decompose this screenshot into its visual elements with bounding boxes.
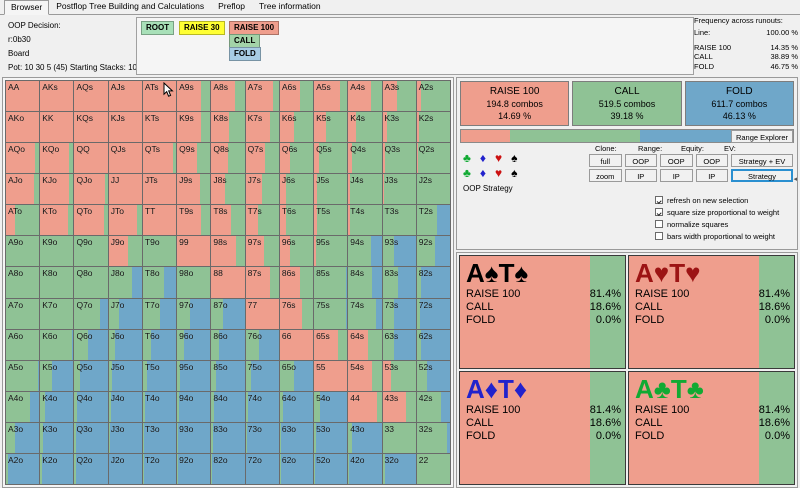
matrix-cell[interactable]: 96s	[280, 236, 314, 267]
matrix-cell[interactable]: 99	[177, 236, 211, 267]
matrix-cell[interactable]: 43o	[348, 423, 382, 454]
tool-button-column: OOPIP	[696, 154, 729, 182]
matrix-cell[interactable]: A5o	[6, 361, 40, 392]
matrix-cell[interactable]: J2o	[109, 454, 143, 485]
matrix-cell-label: 83s	[385, 268, 399, 279]
matrix-cell[interactable]: 65o	[280, 361, 314, 392]
matrix-cell[interactable]: 88	[211, 267, 245, 298]
matrix-cell[interactable]: 86o	[211, 330, 245, 361]
matrix-cell[interactable]: 75s	[314, 299, 348, 330]
matrix-cell[interactable]: 76o	[246, 330, 280, 361]
matrix-cell[interactable]: A7o	[6, 299, 40, 330]
matrix-cell[interactable]: 42o	[348, 454, 382, 485]
matrix-cell[interactable]: Q8s	[211, 143, 245, 174]
checkbox-bars-width-proportional-to-weight[interactable]	[655, 232, 663, 240]
matrix-cell[interactable]: 74s	[348, 299, 382, 330]
matrix-cell[interactable]: ATs	[143, 81, 177, 112]
matrix-cell[interactable]: 98o	[177, 267, 211, 298]
tool-button-header: EV:	[718, 144, 761, 153]
matrix-cell[interactable]: Q4o	[74, 392, 108, 423]
matrix-cell[interactable]: 94s	[348, 236, 382, 267]
matrix-cell[interactable]: 94o	[177, 392, 211, 423]
tab-browser[interactable]: Browser	[4, 0, 49, 15]
matrix-cell[interactable]: 53o	[314, 423, 348, 454]
matrix-cell[interactable]: 83s	[383, 267, 417, 298]
matrix-cell[interactable]: K2s	[417, 112, 451, 143]
matrix-cell-label: Q7s	[248, 144, 264, 155]
diamond-icon[interactable]: ♦	[480, 167, 486, 179]
matrix-cell-segment	[228, 143, 245, 173]
checkbox-row[interactable]: bars width proportional to weight	[655, 230, 779, 242]
matrix-cell[interactable]: 44	[348, 392, 382, 423]
action-percent: 39.18 %	[610, 110, 643, 122]
matrix-cell-label: A6o	[8, 331, 23, 342]
matrix-cell[interactable]: 83o	[211, 423, 245, 454]
tab-postflop-tree-building-and-calculations[interactable]: Postflop Tree Building and Calculations	[49, 0, 211, 14]
matrix-cell[interactable]: K8s	[211, 112, 245, 143]
matrix-cell[interactable]: 22	[417, 454, 451, 485]
matrix-cell-label: 22	[419, 455, 428, 466]
matrix-cell[interactable]: KTo	[40, 205, 74, 236]
hand-detail-panel: A♠T♠RAISE 10081.4%CALL18.6%FOLD0.0%A♥T♥R…	[456, 252, 798, 488]
club-icon[interactable]: ♣	[463, 152, 471, 164]
strategy-summary-panel: RAISE 100194.8 combos14.69 %CALL519.5 co…	[456, 77, 798, 250]
matrix-cell[interactable]: 76s	[280, 299, 314, 330]
tab-preflop[interactable]: Preflop	[211, 0, 252, 14]
matrix-cell[interactable]: A4o	[6, 392, 40, 423]
matrix-cell[interactable]: 77	[246, 299, 280, 330]
matrix-cell[interactable]: A8o	[6, 267, 40, 298]
checkbox-normalize-squares[interactable]	[655, 220, 663, 228]
matrix-cell[interactable]: K6s	[280, 112, 314, 143]
matrix-cell[interactable]: 82s	[417, 267, 451, 298]
heart-icon[interactable]: ♥	[495, 152, 502, 164]
matrix-cell[interactable]: J7s	[246, 174, 280, 205]
matrix-cell[interactable]: Q2s	[417, 143, 451, 174]
matrix-cell[interactable]: AKo	[6, 112, 40, 143]
matrix-cell-segment	[225, 174, 245, 204]
matrix-cell-label: K6o	[42, 331, 57, 342]
matrix-cell-label: Q9o	[76, 237, 92, 248]
matrix-cell[interactable]: T8o	[143, 267, 177, 298]
hand-strategy-row: CALL18.6%	[466, 301, 621, 314]
hand-detail-Aspade-Tspade[interactable]: A♠T♠RAISE 10081.4%CALL18.6%FOLD0.0%	[459, 255, 626, 369]
matrix-cell-label: K4s	[350, 113, 365, 124]
matrix-cell[interactable]: 72s	[417, 299, 451, 330]
matrix-cell-label: AQs	[76, 82, 93, 93]
matrix-cell[interactable]: J8s	[211, 174, 245, 205]
matrix-cell-label: K9o	[42, 237, 57, 248]
matrix-cell[interactable]: K7o	[40, 299, 74, 330]
matrix-cell[interactable]: 92s	[417, 236, 451, 267]
tool-button-bottom[interactable]: IP	[660, 169, 693, 182]
matrix-cell-label: 85o	[213, 362, 227, 373]
matrix-cell[interactable]: 63o	[280, 423, 314, 454]
display-options-checkboxes[interactable]: refresh on new selectionsquare size prop…	[655, 194, 779, 242]
matrix-cell[interactable]: T2s	[417, 205, 451, 236]
matrix-cell[interactable]: K4s	[348, 112, 382, 143]
tool-button-top[interactable]: OOP	[696, 154, 729, 167]
matrix-cell-label: 84s	[350, 268, 364, 279]
matrix-cell[interactable]: 86s	[280, 267, 314, 298]
matrix-cell[interactable]: Q7s	[246, 143, 280, 174]
matrix-cell[interactable]: QJo	[74, 174, 108, 205]
matrix-cell[interactable]: 32o	[383, 454, 417, 485]
matrix-cell[interactable]: 54o	[314, 392, 348, 423]
matrix-cell[interactable]: K7s	[246, 112, 280, 143]
matrix-cell[interactable]: K3o	[40, 423, 74, 454]
suit-filter-rows[interactable]: ♣♦♥♠ ♣♦♥♠	[463, 150, 518, 180]
matrix-cell[interactable]: T5s	[314, 205, 348, 236]
range-matrix-grid[interactable]: AAAKsAQsAJsATsA9sA8sA7sA6sA5sA4sA3sA2sAK…	[5, 80, 451, 485]
tool-button-top[interactable]: OOP	[625, 154, 658, 167]
collapse-arrow-icon[interactable]: ◂	[793, 175, 797, 183]
matrix-cell[interactable]: QTs	[143, 143, 177, 174]
matrix-cell[interactable]: 85s	[314, 267, 348, 298]
matrix-cell[interactable]: T9s	[177, 205, 211, 236]
matrix-cell[interactable]: J7o	[109, 299, 143, 330]
matrix-cell-segment	[235, 81, 245, 111]
matrix-cell-label: T8o	[145, 268, 160, 279]
tool-button-headers: Clone:Range:Equity:EV:	[589, 144, 793, 153]
matrix-cell-label: K9s	[179, 113, 194, 124]
matrix-cell[interactable]: 53s	[383, 361, 417, 392]
matrix-cell[interactable]: 84s	[348, 267, 382, 298]
matrix-cell[interactable]: 85o	[211, 361, 245, 392]
checkbox-row[interactable]: square size proportional to weight	[655, 206, 779, 218]
matrix-cell[interactable]: K2o	[40, 454, 74, 485]
matrix-cell[interactable]: T7o	[143, 299, 177, 330]
matrix-cell[interactable]: 82o	[211, 454, 245, 485]
matrix-cell[interactable]: 95s	[314, 236, 348, 267]
tree-node-raise-30[interactable]: RAISE 30	[179, 21, 225, 35]
matrix-cell-label: 93s	[385, 237, 399, 248]
matrix-cell-segment	[273, 81, 279, 111]
matrix-cell-segment	[201, 112, 210, 142]
matrix-cell[interactable]: T4o	[143, 392, 177, 423]
matrix-cell[interactable]: QTo	[74, 205, 108, 236]
matrix-cell[interactable]: Q5o	[74, 361, 108, 392]
matrix-cell[interactable]: A5s	[314, 81, 348, 112]
hand-action-value: 18.6%	[590, 301, 621, 314]
suit-filter-row-1[interactable]: ♣♦♥♠	[463, 150, 518, 165]
matrix-cell-label: Q5o	[76, 362, 92, 373]
tree-node-root[interactable]: ROOT	[141, 21, 174, 35]
matrix-cell-label: K8o	[42, 268, 57, 279]
range-explorer-button[interactable]: Range Explorer	[731, 130, 793, 143]
hand-detail-Aclub-Tclub[interactable]: A♣T♣RAISE 10081.4%CALL18.6%FOLD0.0%	[628, 371, 795, 485]
matrix-cell[interactable]: Q3s	[383, 143, 417, 174]
matrix-cell[interactable]: J5s	[314, 174, 348, 205]
matrix-cell[interactable]: 65s	[314, 330, 348, 361]
matrix-cell-label: J7o	[111, 300, 125, 311]
matrix-cell[interactable]: J9s	[177, 174, 211, 205]
tree-node-fold[interactable]: FOLD	[229, 47, 261, 61]
matrix-cell[interactable]: J6o	[109, 330, 143, 361]
matrix-cell[interactable]: KJo	[40, 174, 74, 205]
matrix-cell-label: K7o	[42, 300, 57, 311]
range-matrix-panel[interactable]: AAAKsAQsAJsATsA9sA8sA7sA6sA5sA4sA3sA2sAK…	[2, 77, 454, 488]
matrix-cell-label: A7s	[248, 82, 263, 93]
checkbox-row[interactable]: refresh on new selection	[655, 194, 779, 206]
tool-button-column: OOPIP	[625, 154, 658, 182]
matrix-cell-segment	[264, 236, 279, 266]
matrix-cell-label: K6s	[282, 113, 297, 124]
matrix-cell[interactable]: K8o	[40, 267, 74, 298]
matrix-cell[interactable]: T9o	[143, 236, 177, 267]
matrix-cell[interactable]: 64s	[348, 330, 382, 361]
matrix-cell[interactable]: Q2o	[74, 454, 108, 485]
matrix-cell-label: JTo	[111, 206, 124, 217]
matrix-cell[interactable]: 75o	[246, 361, 280, 392]
frequency-title: Frequency across runouts:	[694, 16, 798, 25]
tree-node-call[interactable]: CALL	[229, 34, 260, 48]
tree-node-raise-100[interactable]: RAISE 100	[229, 21, 279, 35]
strategy-button[interactable]: Strategy	[731, 169, 793, 182]
hand-detail-Adiamond-Tdiamond[interactable]: A♦T♦RAISE 10081.4%CALL18.6%FOLD0.0%	[459, 371, 626, 485]
matrix-cell[interactable]: 87o	[211, 299, 245, 330]
matrix-cell-label: T7s	[248, 206, 262, 217]
club-icon[interactable]: ♣	[463, 167, 471, 179]
tool-button-bottom[interactable]: IP	[696, 169, 729, 182]
tool-button-top[interactable]: full	[589, 154, 622, 167]
matrix-cell[interactable]: A2s	[417, 81, 451, 112]
matrix-cell[interactable]: 33	[383, 423, 417, 454]
matrix-cell[interactable]: 97s	[246, 236, 280, 267]
matrix-cell[interactable]: 52s	[417, 361, 451, 392]
matrix-cell[interactable]: A3s	[383, 81, 417, 112]
matrix-cell[interactable]: 52o	[314, 454, 348, 485]
matrix-cell[interactable]: Q6s	[280, 143, 314, 174]
matrix-cell-label: J3o	[111, 424, 125, 435]
matrix-cell[interactable]: 84o	[211, 392, 245, 423]
frequency-row-value: 46.75 %	[770, 62, 798, 72]
matrix-cell-segment	[262, 174, 279, 204]
checkbox-square-size-proportional-to-weight[interactable]	[655, 208, 663, 216]
matrix-cell[interactable]: 96o	[177, 330, 211, 361]
proportion-segment-raise-100	[461, 130, 510, 142]
diamond-icon[interactable]: ♦	[480, 152, 486, 164]
matrix-cell[interactable]: 62o	[280, 454, 314, 485]
spade-icon[interactable]: ♠	[511, 152, 517, 164]
matrix-cell[interactable]: Q5s	[314, 143, 348, 174]
matrix-cell[interactable]: J5o	[109, 361, 143, 392]
matrix-cell[interactable]: T3o	[143, 423, 177, 454]
hand-strategy-row: FOLD0.0%	[466, 314, 621, 327]
matrix-cell-label: Q8s	[213, 144, 229, 155]
matrix-cell-segment	[346, 267, 347, 297]
matrix-cell[interactable]: A6o	[6, 330, 40, 361]
matrix-cell[interactable]: T6s	[280, 205, 314, 236]
matrix-cell-segment	[132, 267, 142, 297]
matrix-cell[interactable]: Q6o	[74, 330, 108, 361]
spade-icon[interactable]: ♠	[511, 167, 517, 179]
action-box-raise-100[interactable]: RAISE 100194.8 combos14.69 %	[460, 81, 569, 126]
tool-button-top[interactable]: OOP	[660, 154, 693, 167]
range-explorer-button-wrap[interactable]: Range Explorer	[731, 130, 793, 143]
checkbox-refresh-on-new-selection[interactable]	[655, 196, 663, 204]
matrix-cell[interactable]: 95o	[177, 361, 211, 392]
matrix-cell[interactable]: KK	[40, 112, 74, 143]
matrix-cell[interactable]: AJs	[109, 81, 143, 112]
matrix-cell-label: J9o	[111, 237, 125, 248]
matrix-cell[interactable]: 55	[314, 361, 348, 392]
matrix-cell[interactable]: Q9s	[177, 143, 211, 174]
matrix-cell[interactable]: J8o	[109, 267, 143, 298]
matrix-cell[interactable]: J3o	[109, 423, 143, 454]
matrix-cell-label: A3o	[8, 424, 23, 435]
matrix-cell[interactable]: AQo	[6, 143, 40, 174]
matrix-cell[interactable]: AQs	[74, 81, 108, 112]
matrix-cell[interactable]: K9s	[177, 112, 211, 143]
tab-tree-information[interactable]: Tree information	[252, 0, 328, 14]
action-box-fold[interactable]: FOLD611.7 combos46.13 %	[685, 81, 794, 126]
tool-button-header: Range:	[632, 144, 675, 153]
matrix-cell-label: JTs	[145, 175, 158, 186]
view-mode-column: Strategy + EVStrategy	[731, 154, 793, 182]
matrix-cell[interactable]: KJs	[109, 112, 143, 143]
matrix-cell-label: J2s	[419, 175, 432, 186]
matrix-cell[interactable]: KQs	[74, 112, 108, 143]
matrix-cell[interactable]: 98s	[211, 236, 245, 267]
tool-button-bottom[interactable]: IP	[625, 169, 658, 182]
matrix-cell-label: 53s	[385, 362, 399, 373]
matrix-cell[interactable]: JJ	[109, 174, 143, 205]
matrix-cell-label: 87s	[248, 268, 262, 279]
matrix-cell-label: T6s	[282, 206, 296, 217]
matrix-cell[interactable]: QQ	[74, 143, 108, 174]
matrix-cell[interactable]: Q3o	[74, 423, 108, 454]
hand-strategy-row: RAISE 10081.4%	[635, 288, 790, 301]
matrix-cell[interactable]: 66	[280, 330, 314, 361]
matrix-cell[interactable]: T3s	[383, 205, 417, 236]
matrix-cell[interactable]: AKs	[40, 81, 74, 112]
frequency-row-value: 38.89 %	[770, 52, 798, 62]
matrix-cell[interactable]: A9o	[6, 236, 40, 267]
matrix-cell[interactable]: 62s	[417, 330, 451, 361]
matrix-cell-label: J6s	[282, 175, 295, 186]
matrix-cell[interactable]: T4s	[348, 205, 382, 236]
matrix-cell[interactable]: 63s	[383, 330, 417, 361]
matrix-cell[interactable]: QJs	[109, 143, 143, 174]
matrix-cell[interactable]: A9s	[177, 81, 211, 112]
matrix-cell[interactable]: K5o	[40, 361, 74, 392]
matrix-cell-segment	[265, 143, 279, 173]
matrix-cell-label: ATs	[145, 82, 159, 93]
matrix-cell[interactable]: A2o	[6, 454, 40, 485]
checkbox-label: bars width proportional to weight	[667, 232, 775, 241]
matrix-cell-label: 97o	[179, 300, 193, 311]
matrix-cell[interactable]: 97o	[177, 299, 211, 330]
matrix-cell[interactable]: 74o	[246, 392, 280, 423]
matrix-cell[interactable]: 93s	[383, 236, 417, 267]
matrix-cell[interactable]: A6s	[280, 81, 314, 112]
matrix-cell[interactable]: 43s	[383, 392, 417, 423]
matrix-cell-label: 74s	[350, 300, 364, 311]
matrix-cell[interactable]: AJo	[6, 174, 40, 205]
matrix-cell[interactable]: K6o	[40, 330, 74, 361]
matrix-cell[interactable]: J4s	[348, 174, 382, 205]
matrix-cell[interactable]: 72o	[246, 454, 280, 485]
matrix-cell[interactable]: Q7o	[74, 299, 108, 330]
matrix-cell[interactable]: A7s	[246, 81, 280, 112]
matrix-cell-segment	[34, 174, 39, 204]
matrix-cell[interactable]: Q8o	[74, 267, 108, 298]
matrix-cell[interactable]: ATo	[6, 205, 40, 236]
matrix-cell-label: 96o	[179, 331, 193, 342]
checkbox-label: refresh on new selection	[667, 196, 748, 205]
matrix-cell[interactable]: AA	[6, 81, 40, 112]
matrix-cell[interactable]: KTs	[143, 112, 177, 143]
matrix-cell[interactable]: K3s	[383, 112, 417, 143]
matrix-cell[interactable]: 73o	[246, 423, 280, 454]
matrix-cell-label: J8s	[213, 175, 226, 186]
matrix-cell[interactable]: TT	[143, 205, 177, 236]
matrix-cell[interactable]: A3o	[6, 423, 40, 454]
matrix-cell-label: J8o	[111, 268, 125, 279]
matrix-cell[interactable]: J6s	[280, 174, 314, 205]
matrix-cell-label: A4o	[8, 393, 23, 404]
matrix-cell[interactable]: T2o	[143, 454, 177, 485]
matrix-cell-label: 82o	[213, 455, 227, 466]
matrix-cell[interactable]: 87s	[246, 267, 280, 298]
hand-detail-Aheart-Theart[interactable]: A♥T♥RAISE 10081.4%CALL18.6%FOLD0.0%	[628, 255, 795, 369]
matrix-cell[interactable]: KQo	[40, 143, 74, 174]
suit-filter-row-2[interactable]: ♣♦♥♠	[463, 165, 518, 180]
matrix-cell[interactable]: T7s	[246, 205, 280, 236]
heart-icon[interactable]: ♥	[495, 167, 502, 179]
matrix-cell-label: T9s	[179, 206, 193, 217]
matrix-cell-label: A8o	[8, 268, 23, 279]
matrix-cell[interactable]: Q9o	[74, 236, 108, 267]
matrix-cell-label: 73s	[385, 300, 399, 311]
matrix-cell[interactable]: 54s	[348, 361, 382, 392]
action-combos: 194.8 combos	[486, 98, 543, 110]
matrix-cell[interactable]: T8s	[211, 205, 245, 236]
matrix-cell[interactable]: J9o	[109, 236, 143, 267]
matrix-cell[interactable]: JTo	[109, 205, 143, 236]
matrix-cell-label: T3s	[385, 206, 399, 217]
matrix-cell[interactable]: 64o	[280, 392, 314, 423]
matrix-cell[interactable]: 32s	[417, 423, 451, 454]
matrix-cell[interactable]: 42s	[417, 392, 451, 423]
matrix-cell-segment	[197, 143, 210, 173]
matrix-cell[interactable]: A4s	[348, 81, 382, 112]
tool-button-bottom[interactable]: zoom	[589, 169, 622, 182]
matrix-cell-label: TT	[145, 206, 155, 217]
tool-button-grid[interactable]: fullzoomOOPIPOOPIPOOPIPStrategy + EVStra…	[589, 154, 793, 182]
matrix-cell[interactable]: K5s	[314, 112, 348, 143]
matrix-cell[interactable]: T6o	[143, 330, 177, 361]
matrix-cell[interactable]: A8s	[211, 81, 245, 112]
matrix-cell[interactable]: J3s	[383, 174, 417, 205]
strategy-ev-button[interactable]: Strategy + EV	[731, 154, 793, 167]
matrix-cell[interactable]: K9o	[40, 236, 74, 267]
matrix-cell[interactable]: T5o	[143, 361, 177, 392]
matrix-cell[interactable]: 73s	[383, 299, 417, 330]
action-box-call[interactable]: CALL519.5 combos39.18 %	[572, 81, 681, 126]
matrix-cell[interactable]: JTs	[143, 174, 177, 205]
matrix-cell[interactable]: J2s	[417, 174, 451, 205]
hand-action-value: 81.4%	[759, 288, 790, 301]
matrix-cell[interactable]: K4o	[40, 392, 74, 423]
matrix-cell[interactable]: 93o	[177, 423, 211, 454]
matrix-cell[interactable]: J4o	[109, 392, 143, 423]
matrix-cell-segment	[398, 267, 415, 297]
matrix-cell[interactable]: 92o	[177, 454, 211, 485]
checkbox-row[interactable]: normalize squares	[655, 218, 779, 230]
matrix-cell[interactable]: Q4s	[348, 143, 382, 174]
